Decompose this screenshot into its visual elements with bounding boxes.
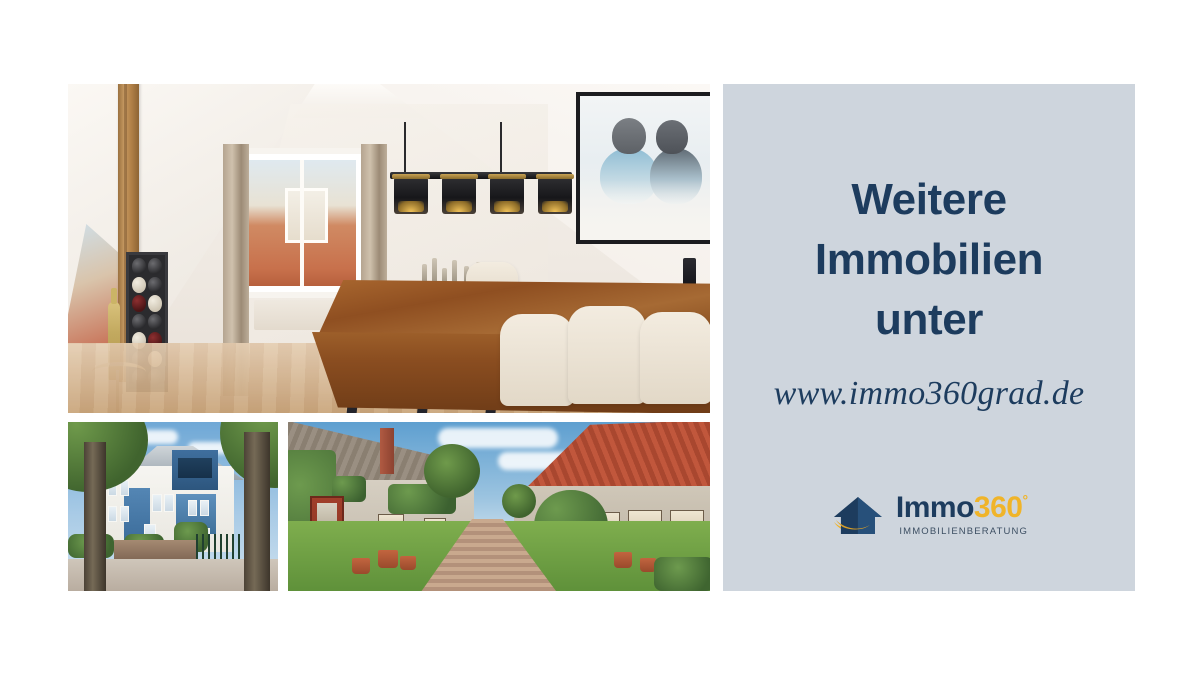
tree-trunk: [244, 432, 270, 591]
logo-word-immo: Immo: [896, 493, 974, 523]
dormer-window: [236, 148, 368, 298]
lamp-suspension-rod: [500, 122, 502, 172]
wine-bottle-end: [148, 258, 162, 275]
page-title: Weitere Immobilien unter: [764, 170, 1094, 349]
villa-window: [164, 494, 174, 512]
small-bottle: [432, 258, 437, 284]
logo-tagline: IMMOBILIENBERATUNG: [896, 527, 1028, 537]
wine-bottle-end: [148, 314, 162, 331]
flower-pot: [400, 556, 416, 570]
pendant-lamp-shade: [394, 178, 428, 214]
dining-chair: [640, 312, 710, 404]
villa-window: [152, 494, 162, 512]
villa-window: [188, 500, 197, 516]
flower-pot: [378, 550, 398, 568]
artwork-head-left: [612, 118, 646, 154]
villa-window: [108, 506, 117, 522]
blue-white-villa-photo[interactable]: [68, 422, 278, 591]
pendant-lamp-shade: [490, 178, 524, 214]
lamp-suspension-rod: [404, 122, 406, 172]
headline-line-2: Immobilien: [764, 230, 1094, 290]
wine-bottle-end: [148, 277, 162, 294]
garden-courtyard-photo[interactable]: [288, 422, 710, 591]
chimney: [380, 428, 394, 474]
house-swoosh-icon: [830, 492, 886, 538]
logo-degree-symbol: °: [1022, 493, 1028, 507]
room-background: [68, 84, 710, 413]
logo-word-360: 360: [974, 493, 1023, 523]
dining-chair: [500, 314, 574, 406]
villa-window: [120, 506, 129, 522]
tree-canopy: [502, 484, 536, 518]
villa-window: [200, 500, 209, 516]
wine-bottle-end: [132, 277, 146, 294]
logo-wordmark: Immo 360 ° IMMOBILIENBERATUNG: [896, 493, 1028, 537]
artwork-gradient-fade: [580, 180, 710, 240]
promo-panel: Weitere Immobilien unter www.immo360grad…: [723, 84, 1135, 591]
wine-bottle-end: [148, 295, 162, 312]
website-url[interactable]: www.immo360grad.de: [774, 375, 1085, 413]
villa-dormer-tower: [172, 450, 218, 490]
wine-bottle-end: [132, 258, 146, 275]
wine-bottle-end: [132, 295, 146, 312]
shrub: [654, 557, 710, 591]
pendant-lamp-shade: [538, 178, 572, 214]
dining-chair: [568, 306, 646, 404]
brand-logo[interactable]: Immo 360 ° IMMOBILIENBERATUNG: [830, 492, 1028, 538]
wine-bottle-end: [132, 314, 146, 331]
slide-canvas: Weitere Immobilien unter www.immo360grad…: [0, 0, 1200, 675]
tree-canopy: [424, 444, 480, 498]
small-bottle: [452, 260, 457, 284]
headline-line-1: Weitere: [764, 170, 1094, 230]
window-mullion: [300, 160, 304, 286]
flower-pot: [614, 552, 632, 568]
pendant-lamp-shade: [442, 178, 476, 214]
flower-pot: [352, 558, 370, 574]
framed-artwork: [576, 92, 710, 244]
headline-line-3: unter: [764, 290, 1094, 350]
artwork-head-right: [656, 120, 688, 154]
tree-trunk: [84, 442, 106, 591]
logo-word-row: Immo 360 °: [896, 493, 1028, 523]
attic-dining-room-photo[interactable]: [68, 84, 710, 413]
